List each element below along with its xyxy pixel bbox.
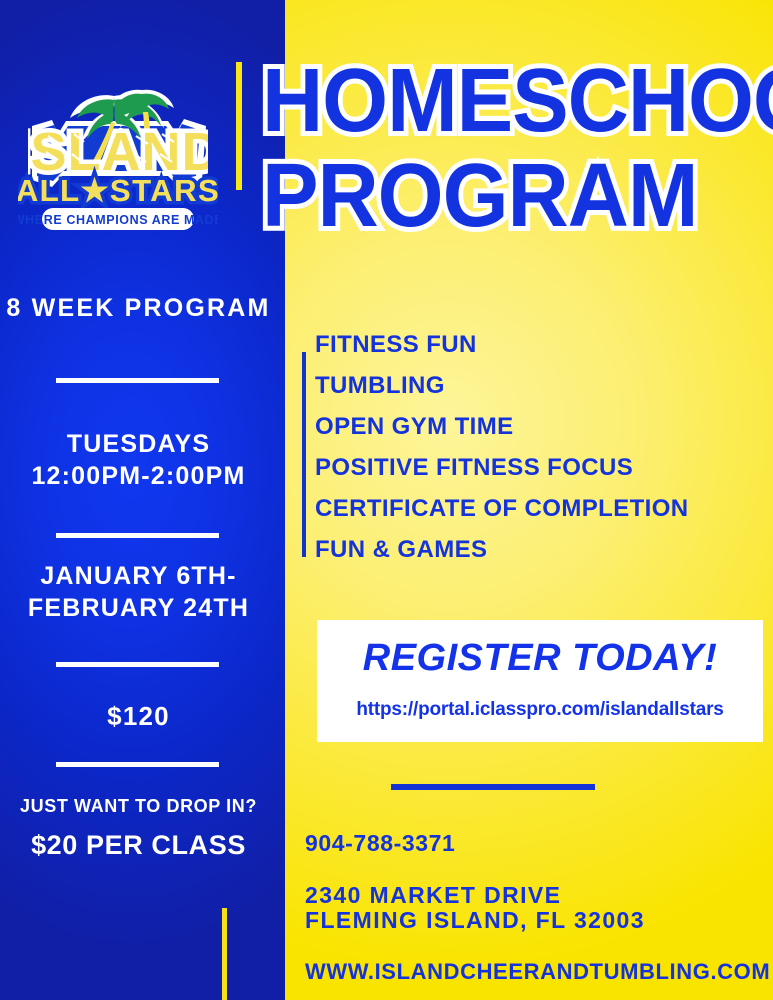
- detail-time: 12:00PM-2:00PM: [0, 460, 277, 492]
- contact-website[interactable]: WWW.ISLANDCHEERANDTUMBLING.COM: [305, 959, 770, 985]
- detail-price: $120: [0, 700, 277, 733]
- detail-schedule: TUESDAYS 12:00PM-2:00PM: [0, 428, 277, 492]
- register-title: REGISTER TODAY!: [317, 637, 763, 680]
- blue-divider-contact: [391, 784, 595, 790]
- detail-dropin-question: JUST WANT TO DROP IN?: [0, 795, 277, 818]
- sidebar-divider-1: [56, 378, 219, 383]
- list-item: FITNESS FUN: [315, 333, 755, 357]
- detail-date-end: FEBRUARY 24TH: [0, 592, 277, 624]
- contact-phone[interactable]: 904-788-3371: [305, 830, 770, 857]
- headline-line-2: PROGRAM: [262, 153, 773, 239]
- features-list: FITNESS FUN TUMBLING OPEN GYM TIME POSIT…: [315, 333, 755, 562]
- detail-date-start: JANUARY 6TH-: [0, 560, 277, 592]
- island-all-stars-logo: ISLAND ISLAND ALL★STARS ALL★: [18, 88, 218, 246]
- svg-text:ALL★STARS: ALL★STARS: [18, 173, 218, 208]
- list-item: POSITIVE FITNESS FOCUS: [315, 456, 755, 480]
- headline-line-1: HOMESCHOOL: [262, 58, 773, 144]
- contact-address-line-1: 2340 MARKET DRIVE: [305, 883, 770, 908]
- register-callout-box[interactable]: REGISTER TODAY! https://portal.iclasspro…: [317, 620, 763, 742]
- yellow-accent-line-bottom: [222, 908, 227, 1000]
- sidebar-divider-3: [56, 662, 219, 667]
- sidebar-divider-4: [56, 762, 219, 767]
- flyer-canvas: ISLAND ISLAND ALL★STARS ALL★: [0, 0, 773, 1000]
- register-url-link[interactable]: https://portal.iclasspro.com/islandallst…: [317, 699, 763, 721]
- contact-address-line-2: FLEMING ISLAND, FL 32003: [305, 908, 770, 933]
- list-item: TUMBLING: [315, 374, 755, 398]
- sidebar-divider-2: [56, 533, 219, 538]
- page-title: HOMESCHOOL PROGRAM: [262, 58, 762, 230]
- yellow-accent-line-title: [236, 62, 242, 190]
- detail-date-range: JANUARY 6TH- FEBRUARY 24TH: [0, 560, 277, 624]
- blue-accent-line-features: [302, 352, 306, 557]
- detail-duration: 8 WEEK PROGRAM: [0, 292, 277, 324]
- detail-day: TUESDAYS: [0, 428, 277, 460]
- detail-dropin-price: $20 PER CLASS: [0, 828, 277, 863]
- contact-block: 904-788-3371 2340 MARKET DRIVE FLEMING I…: [305, 830, 770, 985]
- svg-text:WHERE CHAMPIONS ARE MADE: WHERE CHAMPIONS ARE MADE: [18, 213, 218, 227]
- list-item: FUN & GAMES: [315, 538, 755, 562]
- list-item: OPEN GYM TIME: [315, 415, 755, 439]
- list-item: CERTIFICATE OF COMPLETION: [315, 497, 755, 521]
